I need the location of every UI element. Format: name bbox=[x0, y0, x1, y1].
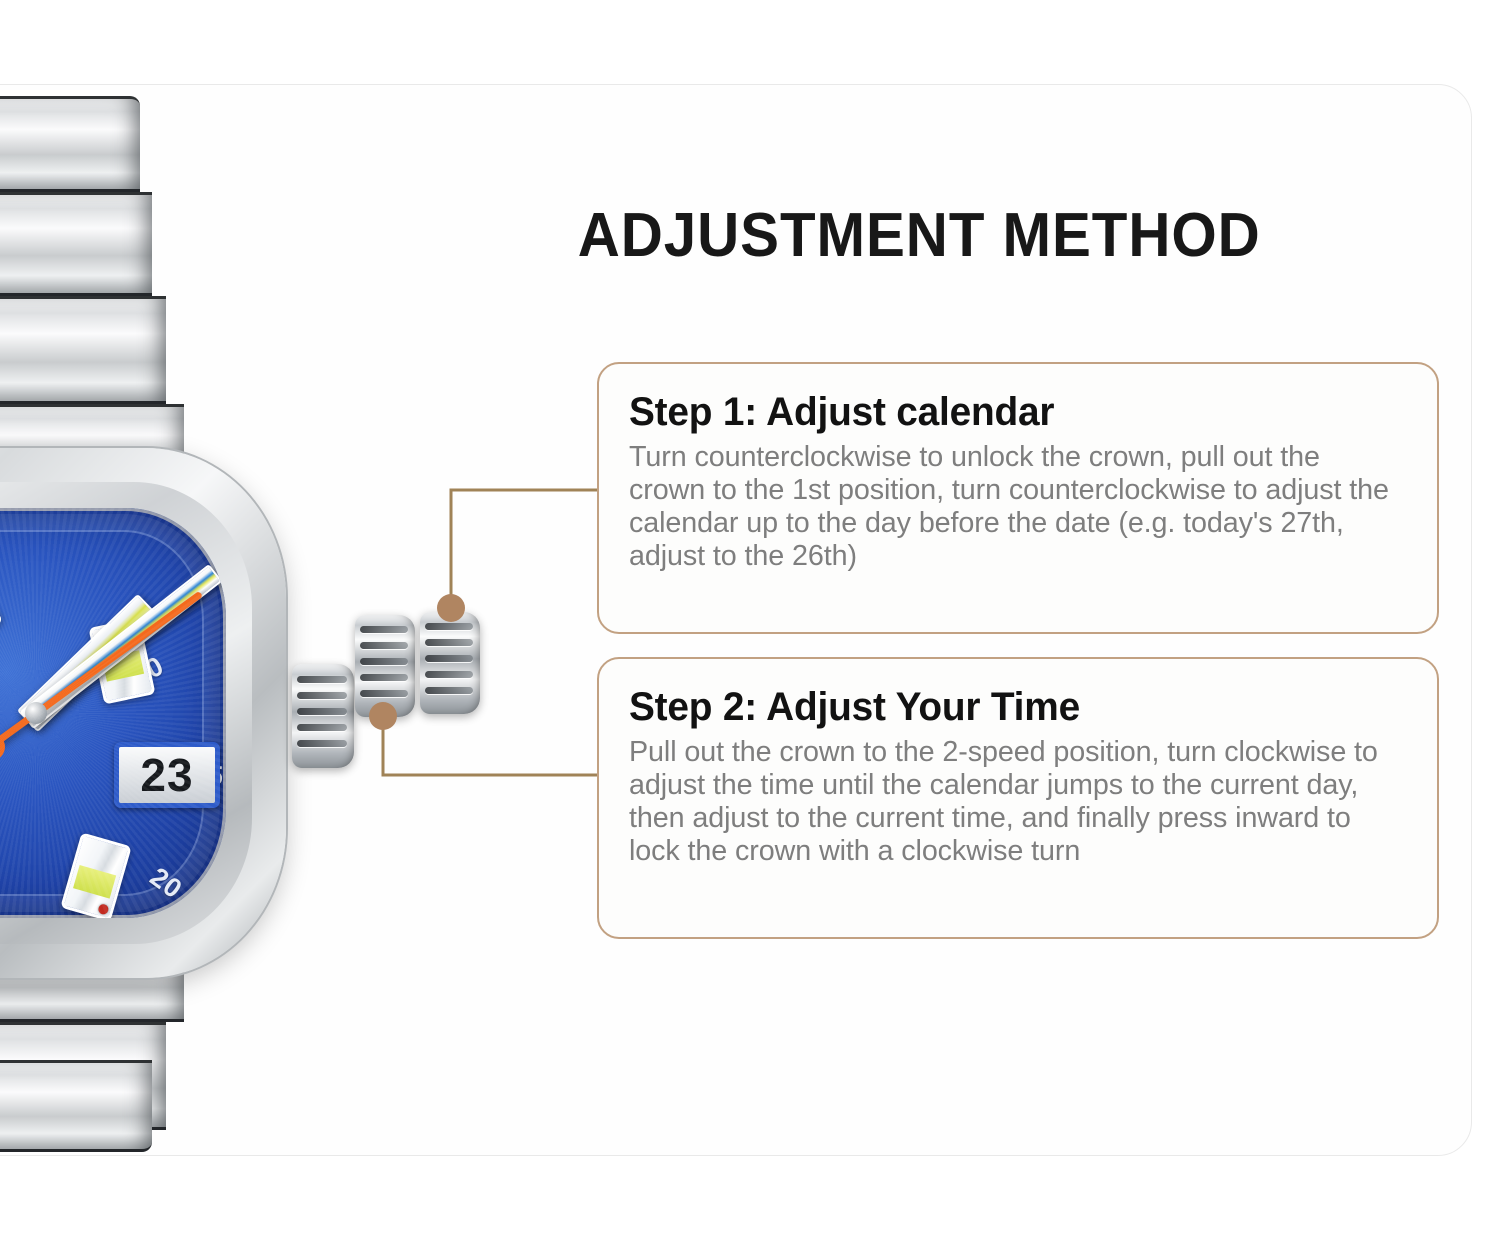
crown-flute bbox=[360, 674, 408, 681]
date-value: 23 bbox=[140, 748, 193, 802]
step-1-body: Turn counterclockwise to unlock the crow… bbox=[629, 441, 1395, 573]
step-1-title: Step 1: Adjust calendar bbox=[629, 390, 1380, 435]
watch-bezel: 05 10 15 20 25 bbox=[0, 482, 252, 944]
crown-flute bbox=[425, 687, 473, 694]
watch-dial: 05 10 15 20 25 bbox=[0, 508, 226, 918]
crown-flute bbox=[425, 671, 473, 678]
callout-dot-step-1 bbox=[437, 594, 465, 622]
crown-flute bbox=[360, 658, 408, 665]
crown-flute bbox=[360, 626, 408, 633]
page-title: ADJUSTMENT METHOD bbox=[45, 200, 1455, 271]
callout-dot-step-2 bbox=[369, 702, 397, 730]
bracelet-link bbox=[0, 96, 140, 192]
crown-flute bbox=[360, 642, 408, 649]
step-2-title: Step 2: Adjust Your Time bbox=[629, 685, 1380, 730]
crown-flute bbox=[297, 740, 347, 747]
crown-flute bbox=[297, 676, 347, 683]
crown-flute bbox=[297, 692, 347, 699]
hand-pinion bbox=[25, 702, 47, 724]
crown-flute bbox=[360, 690, 408, 697]
date-window: 23 bbox=[114, 742, 220, 808]
step-2-card: Step 2: Adjust Your Time Pull out the cr… bbox=[597, 657, 1439, 939]
bracelet-link bbox=[0, 296, 166, 404]
step-2-body: Pull out the crown to the 2-speed positi… bbox=[629, 736, 1395, 868]
crown-flute bbox=[425, 623, 473, 630]
crown-position-2 bbox=[420, 612, 480, 714]
watch-case: 05 10 15 20 25 bbox=[0, 448, 286, 978]
marker-dot bbox=[97, 903, 109, 915]
crown-flute bbox=[425, 655, 473, 662]
crown-flute bbox=[425, 639, 473, 646]
crown-flute bbox=[297, 708, 347, 715]
crown-position-0 bbox=[292, 664, 354, 768]
product-instruction-graphic: 05 10 15 20 25 bbox=[0, 0, 1500, 1239]
bracelet-link bbox=[0, 1060, 152, 1152]
step-1-card: Step 1: Adjust calendar Turn countercloc… bbox=[597, 362, 1439, 634]
crown-flute bbox=[297, 724, 347, 731]
